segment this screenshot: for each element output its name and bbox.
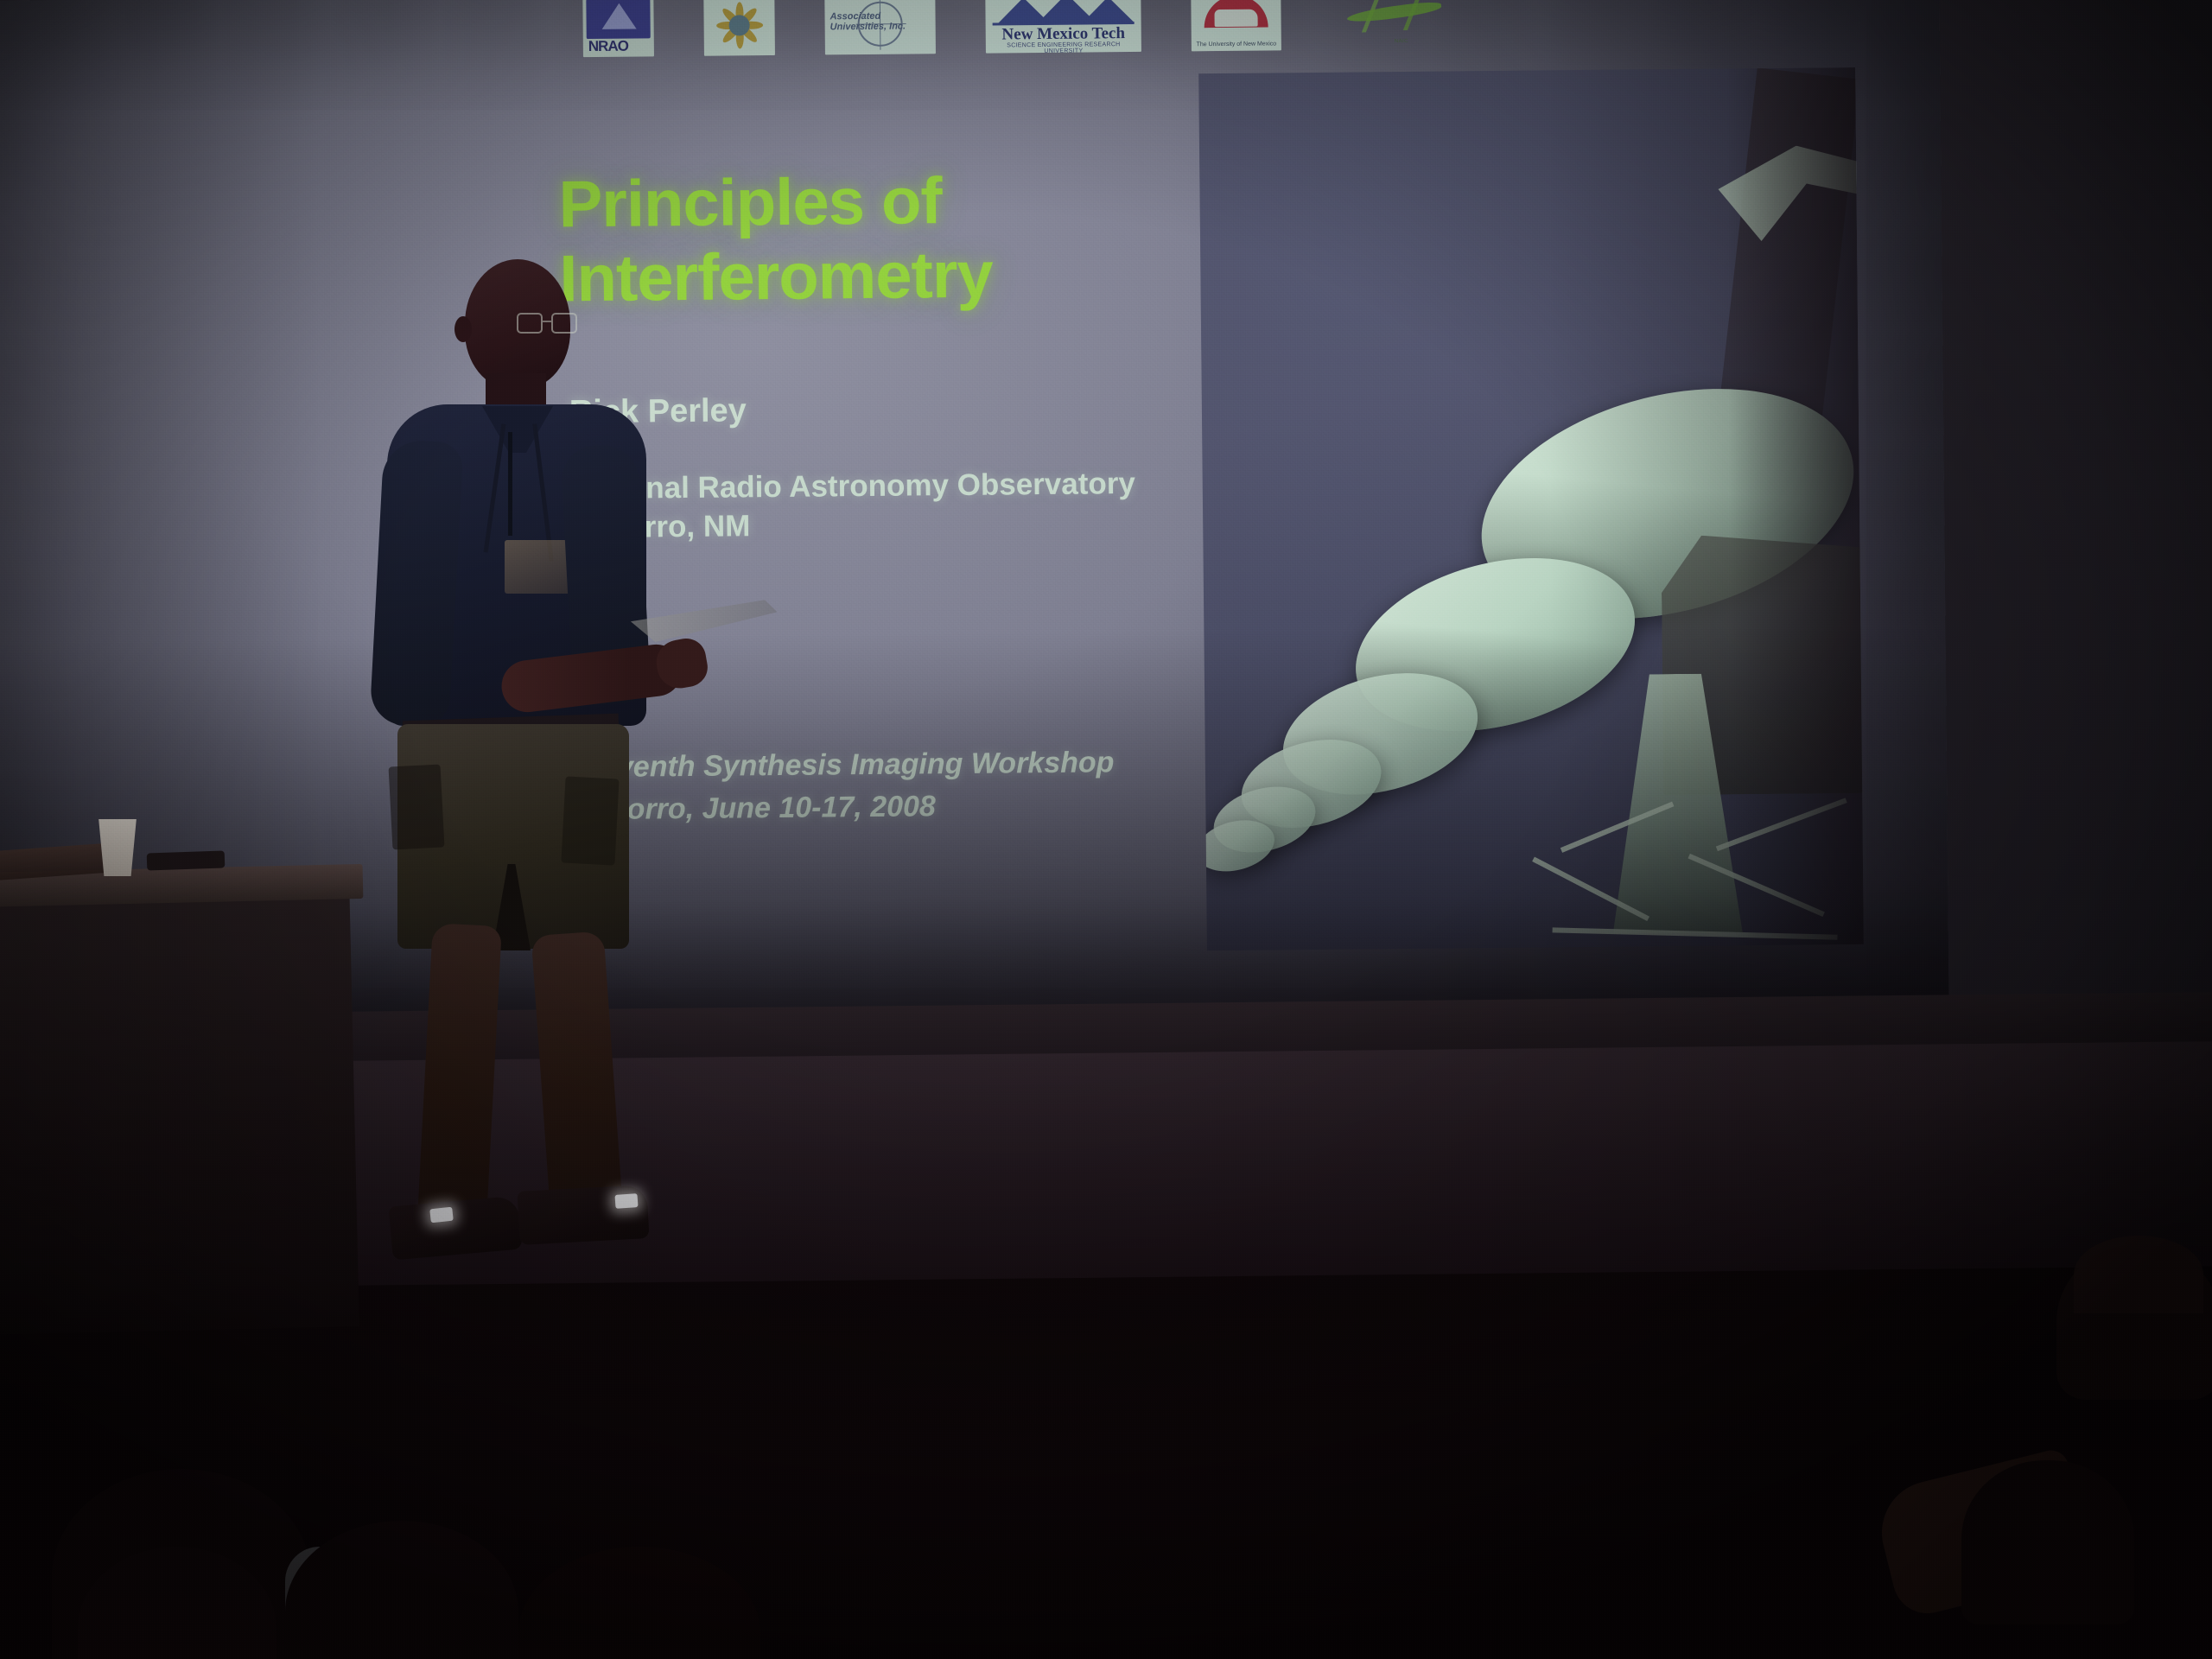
aui-logo-label: Associated Universities, Inc. [829, 10, 930, 32]
nsf-logo [703, 0, 775, 56]
glasses-icon [517, 313, 579, 335]
vla-antenna-photo [1198, 67, 1864, 950]
shoe-reflective-patch-right [614, 1193, 638, 1209]
podium-dark-object [147, 850, 226, 870]
audience-head-4 [518, 1547, 760, 1659]
nmt-logo: New Mexico Tech SCIENCE ENGINEERING RESE… [985, 0, 1141, 54]
aui-logo: Associated Universities, Inc. [824, 0, 936, 54]
presenter-silhouette [372, 259, 734, 1331]
shoe-reflective-patch-left [429, 1207, 454, 1224]
lecture-hall-scene: NRAO [0, 0, 2212, 1659]
audience-head-3 [285, 1521, 518, 1659]
audience-silhouettes [0, 1374, 2212, 1659]
unm-logo-label: The University of New Mexico [1193, 41, 1280, 48]
sponsor-logo-strip: NRAO [582, 0, 1732, 59]
naic-logo: NAIC [1331, 0, 1470, 50]
presenter-leg-right [531, 931, 624, 1220]
nmt-logo-tagline: SCIENCE ENGINEERING RESEARCH UNIVERSITY [991, 41, 1136, 54]
audience-head-5 [1961, 1460, 2134, 1624]
slide-title-line-1: Principles of [558, 162, 1216, 242]
nrao-logo: NRAO [582, 0, 654, 57]
audience-head-6-hair [2074, 1236, 2203, 1313]
presenter-ear [454, 316, 472, 342]
nrao-logo-label: NRAO [588, 38, 628, 55]
unm-logo: The University of New Mexico [1191, 0, 1281, 51]
presenter-leg-left [417, 923, 502, 1220]
presenter-shoe-left [389, 1196, 523, 1261]
podium-table [0, 877, 359, 1335]
presenter-arm-left [369, 439, 463, 728]
